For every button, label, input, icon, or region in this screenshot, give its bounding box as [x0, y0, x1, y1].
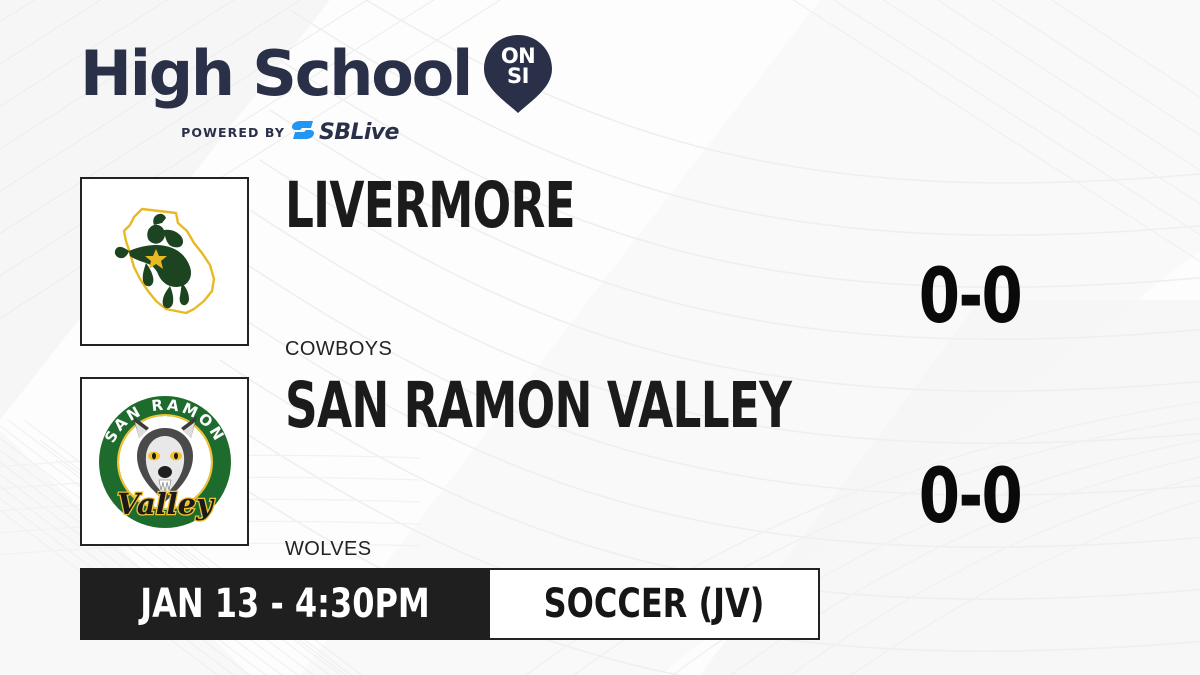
- pin-line-on: ON: [483, 46, 553, 66]
- game-sport: SOCCER (JV): [544, 584, 765, 624]
- home-team-logo-box: SAN RAMON Valley: [80, 377, 249, 546]
- page-title: High School: [80, 43, 471, 105]
- home-team-name: SAN RAMON VALLEY: [285, 374, 791, 437]
- away-team-score: 0-0: [908, 258, 1033, 334]
- away-team-name: LIVERMORE: [285, 174, 575, 237]
- sblive-bolt-icon: [292, 120, 316, 145]
- powered-by-row: POWERED BY SBLive: [80, 120, 500, 145]
- home-team-score: 0-0: [908, 458, 1033, 534]
- sblive-wordmark: SBLive: [319, 122, 399, 144]
- away-team-logo-box: [80, 177, 249, 346]
- game-info-bar: JAN 13 - 4:30PM SOCCER (JV): [80, 568, 820, 640]
- on-si-pin-label: ON SI: [483, 46, 553, 86]
- home-team-mascot: WOLVES: [285, 538, 372, 561]
- powered-by-label: POWERED BY: [181, 125, 285, 140]
- brand-logo-row: High School ON SI: [80, 34, 553, 114]
- game-date-time-cell: JAN 13 - 4:30PM: [80, 568, 490, 640]
- game-sport-cell: SOCCER (JV): [490, 568, 820, 640]
- brand-header: High School ON SI POWERED BY SBLiv: [80, 34, 553, 145]
- svg-text:Valley: Valley: [117, 487, 215, 521]
- on-si-pin-icon: ON SI: [483, 34, 553, 114]
- livermore-cowboys-logo: [90, 187, 240, 337]
- away-team-mascot: COWBOYS: [285, 338, 392, 361]
- pin-line-si: SI: [483, 66, 553, 86]
- sblive-logo: SBLive: [292, 120, 399, 145]
- game-date-time: JAN 13 - 4:30PM: [140, 584, 430, 624]
- san-ramon-valley-wolves-logo: SAN RAMON Valley: [89, 386, 241, 538]
